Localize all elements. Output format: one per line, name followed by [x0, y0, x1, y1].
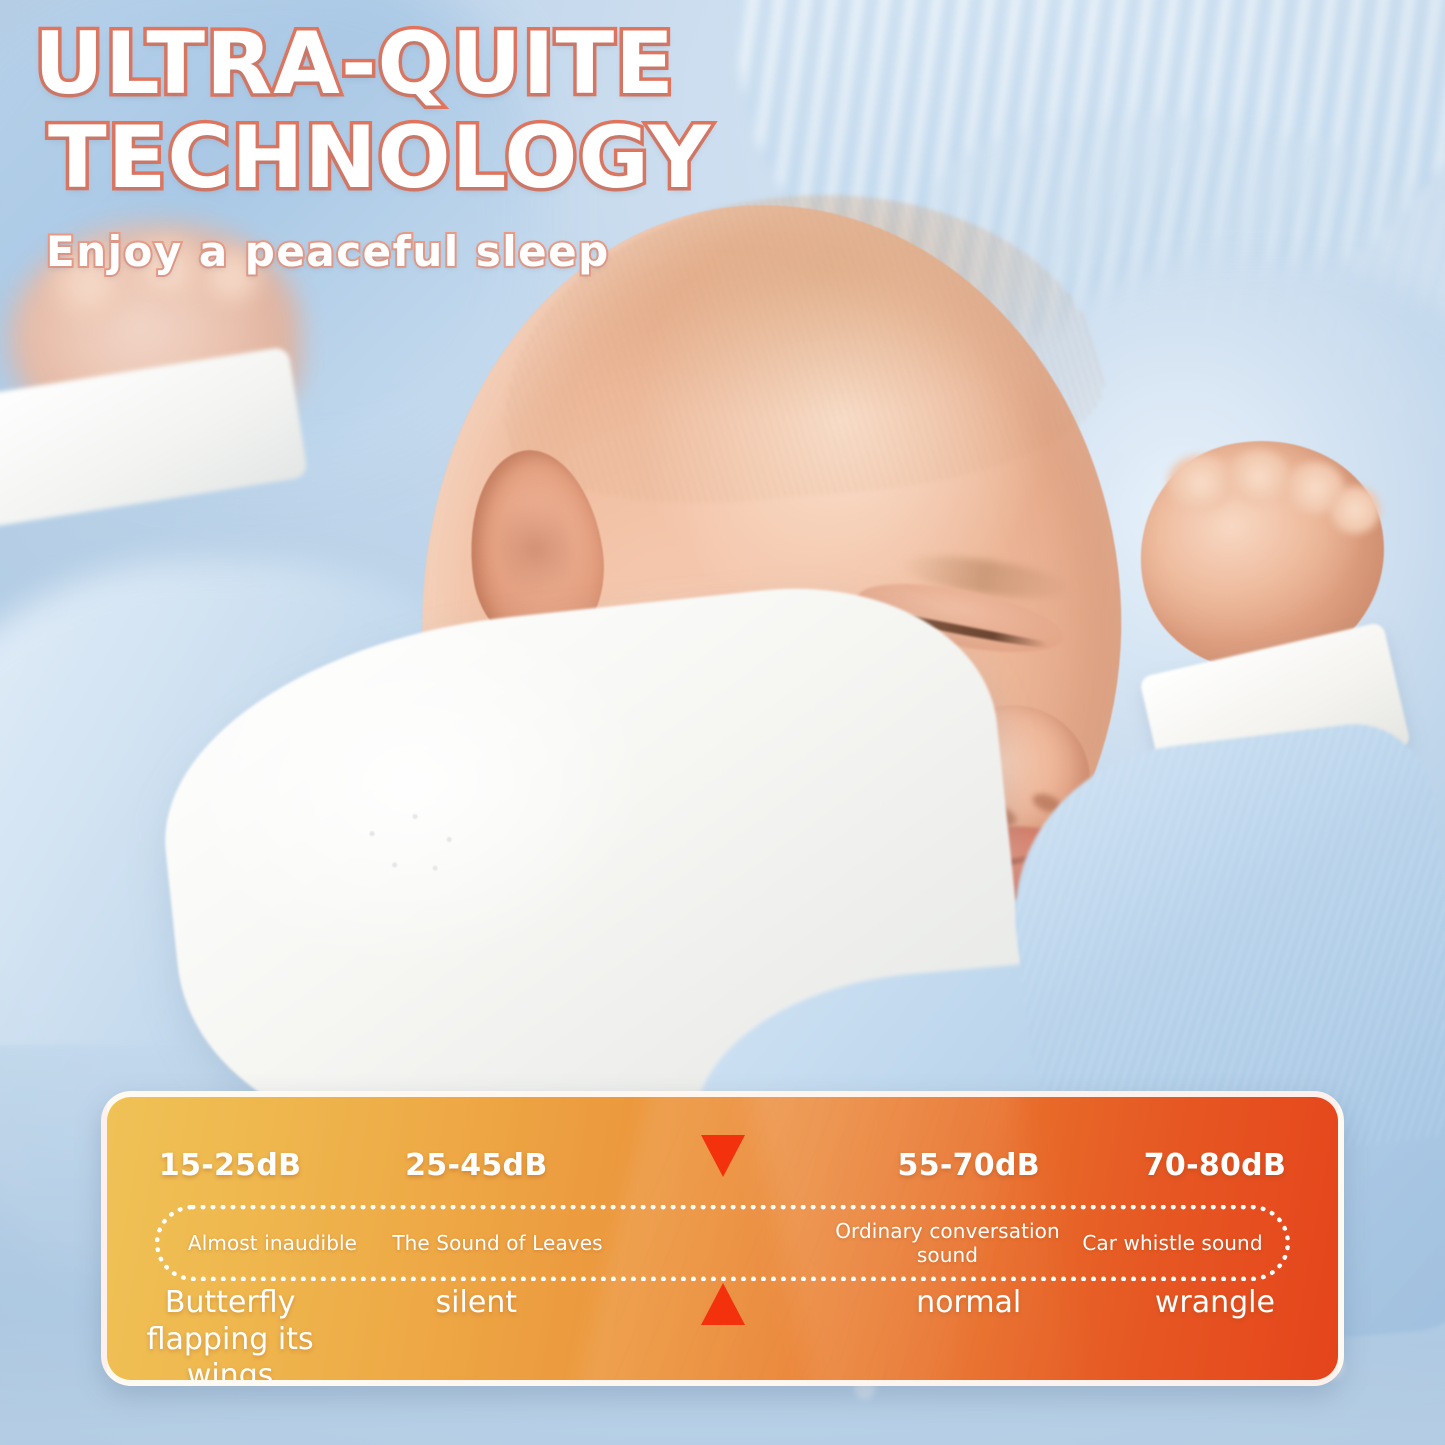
headline-block: ULTRA-QUITE TECHNOLOGY Enjoy a peaceful … [34, 22, 854, 276]
decibel-cell: 70-80dB [1092, 1148, 1338, 1183]
example-cell: Ordinary conversation sound [835, 1219, 1060, 1267]
decibel-scale-panel: 15-25dB 25-45dB 55-70dB 70-80dB Almos [101, 1091, 1344, 1386]
example-cell: Almost inaudible [160, 1231, 385, 1255]
baby-knuckle [1228, 450, 1290, 504]
descriptor: normal [846, 1285, 1092, 1322]
decibel-cell: 25-45dB [353, 1148, 599, 1183]
decibel-value: 25-45dB [405, 1148, 547, 1183]
sound-example: The Sound of Leaves [392, 1231, 602, 1255]
baby-knuckle [1168, 455, 1234, 511]
sound-example-capsule: Almost inaudible The Sound of Leaves Ord… [155, 1205, 1290, 1281]
headline-line-2: TECHNOLOGY [48, 116, 854, 200]
decibel-cell: 55-70dB [846, 1148, 1092, 1183]
decibel-cell: 15-25dB [107, 1148, 353, 1183]
triangle-up-icon [701, 1283, 745, 1325]
decibel-value: 70-80dB [1144, 1148, 1286, 1183]
decibel-value: 15-25dB [159, 1148, 301, 1183]
example-cell: The Sound of Leaves [385, 1231, 610, 1255]
decibel-value: 55-70dB [898, 1148, 1040, 1183]
product-promo-poster: ULTRA-QUITE TECHNOLOGY Enjoy a peaceful … [0, 0, 1445, 1445]
headline-line-1: ULTRA-QUITE [34, 22, 854, 106]
baby-knuckle [1330, 486, 1380, 534]
sound-example: Ordinary conversation sound [835, 1219, 1060, 1267]
headline-subtitle: Enjoy a peaceful sleep [46, 227, 854, 276]
descriptor: silent [353, 1285, 599, 1322]
descriptor: Butterflyflapping its wings [107, 1285, 353, 1386]
descriptor: wrangle [1092, 1285, 1338, 1322]
sound-example: Car whistle sound [1082, 1231, 1262, 1255]
sound-example: Almost inaudible [188, 1231, 357, 1255]
triangle-down-icon [701, 1135, 745, 1177]
example-cell: Car whistle sound [1060, 1231, 1285, 1255]
